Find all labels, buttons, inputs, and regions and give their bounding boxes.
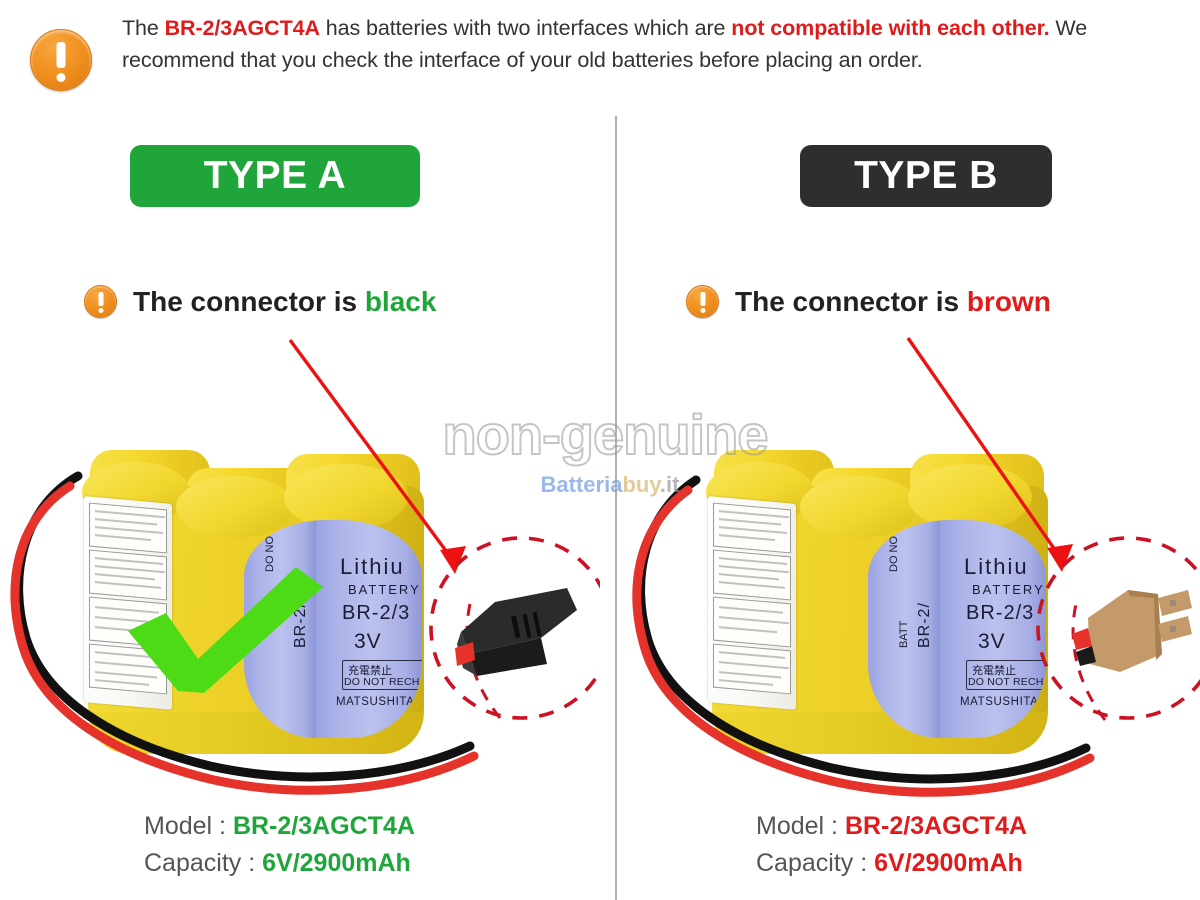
- blue-label-lithium: Lithiu: [964, 554, 1029, 580]
- spec-value: 6V/2900mAh: [874, 849, 1023, 877]
- spec-value: 6V/2900mAh: [262, 849, 411, 877]
- warning-exclamation-icon: [84, 285, 117, 318]
- notice-seg-1: BR-2/3AGCT4A: [165, 16, 320, 40]
- battery-pack: DO NOT BR-2/ BATT Lithiu BATTERY BR-2/3 …: [660, 448, 1090, 778]
- type-b-badge: TYPE B: [800, 145, 1052, 207]
- spec-row-capacity: Capacity : 6V/2900mAh: [144, 845, 415, 882]
- notice-text: The BR-2/3AGCT4A has batteries with two …: [122, 12, 1157, 76]
- type-a-badge: TYPE A: [130, 145, 420, 207]
- notice-seg-3: not compatible with each other.: [731, 16, 1049, 40]
- warning-exclamation-icon: [30, 29, 92, 91]
- type-b-connector-note: The connector is brown: [686, 285, 1051, 318]
- battery-comparison-page: The BR-2/3AGCT4A has batteries with two …: [0, 0, 1200, 900]
- type-b-specs: Model : BR-2/3AGCT4A Capacity : 6V/2900m…: [756, 808, 1027, 882]
- type-a-connector-note: The connector is black: [84, 285, 436, 318]
- spec-label: Model :: [756, 812, 838, 840]
- blue-label-model: BR-2/3: [966, 602, 1034, 625]
- type-a-connector-text: The connector is black: [133, 286, 436, 318]
- battery-warning-sticker: [708, 496, 796, 710]
- blue-label-do-not-recharge: DO NOT RECHA: [344, 676, 422, 688]
- brown-connector: [1070, 568, 1200, 688]
- notice-seg-0: The: [122, 16, 165, 40]
- blue-label-battery: BATTERY: [348, 582, 421, 597]
- blue-label-side-model: BR-2/: [916, 602, 934, 648]
- blue-label-manufacturer: MATSUSHITA E: [960, 696, 1046, 708]
- type-b-battery-photo: DO NOT BR-2/ BATT Lithiu BATTERY BR-2/3 …: [600, 328, 1200, 798]
- type-a-specs: Model : BR-2/3AGCT4A Capacity : 6V/2900m…: [144, 808, 415, 882]
- blue-label-model: BR-2/3: [342, 602, 410, 625]
- connector-prefix: The connector is: [133, 286, 365, 317]
- spec-row-capacity: Capacity : 6V/2900mAh: [756, 845, 1027, 882]
- black-connector: [455, 576, 585, 686]
- warning-exclamation-icon: [686, 285, 719, 318]
- connector-color-word: black: [365, 286, 437, 317]
- blue-label-voltage: 3V: [978, 630, 1006, 654]
- spec-value: BR-2/3AGCT4A: [845, 812, 1027, 840]
- spec-value: BR-2/3AGCT4A: [233, 812, 415, 840]
- blue-label-manufacturer: MATSUSHITA E: [336, 696, 422, 708]
- notice-seg-2: has batteries with two interfaces which …: [320, 16, 731, 40]
- blue-label-voltage: 3V: [354, 630, 382, 654]
- blue-label-battery: BATTERY: [972, 582, 1045, 597]
- panel-type-a: TYPE A The connector is black DO NOT BR-…: [0, 118, 600, 900]
- blue-label-do-not-recharge: DO NOT RECHA: [968, 676, 1046, 688]
- panel-type-b: TYPE B The connector is brown DO NOT BR-…: [600, 118, 1200, 900]
- spec-label: Model :: [144, 812, 226, 840]
- top-notice-banner: The BR-2/3AGCT4A has batteries with two …: [0, 0, 1200, 118]
- blue-label-lithium: Lithiu: [340, 554, 405, 580]
- spec-label: Capacity :: [144, 849, 255, 877]
- connector-color-word: brown: [967, 286, 1051, 317]
- connector-prefix: The connector is: [735, 286, 967, 317]
- battery-blue-cells: DO NOT BR-2/ BATT Lithiu BATTERY BR-2/3 …: [868, 520, 1046, 738]
- blue-label-side-batt: BATT: [898, 621, 910, 648]
- spec-label: Capacity :: [756, 849, 867, 877]
- spec-row-model: Model : BR-2/3AGCT4A: [756, 808, 1027, 845]
- type-b-connector-text: The connector is brown: [735, 286, 1051, 318]
- green-check-icon: [118, 553, 333, 703]
- spec-row-model: Model : BR-2/3AGCT4A: [144, 808, 415, 845]
- type-a-battery-photo: DO NOT BR-2/ Lithiu BATTERY BR-2/3 3V 充電…: [0, 328, 600, 798]
- blue-label-do-not: DO NOT: [888, 529, 900, 572]
